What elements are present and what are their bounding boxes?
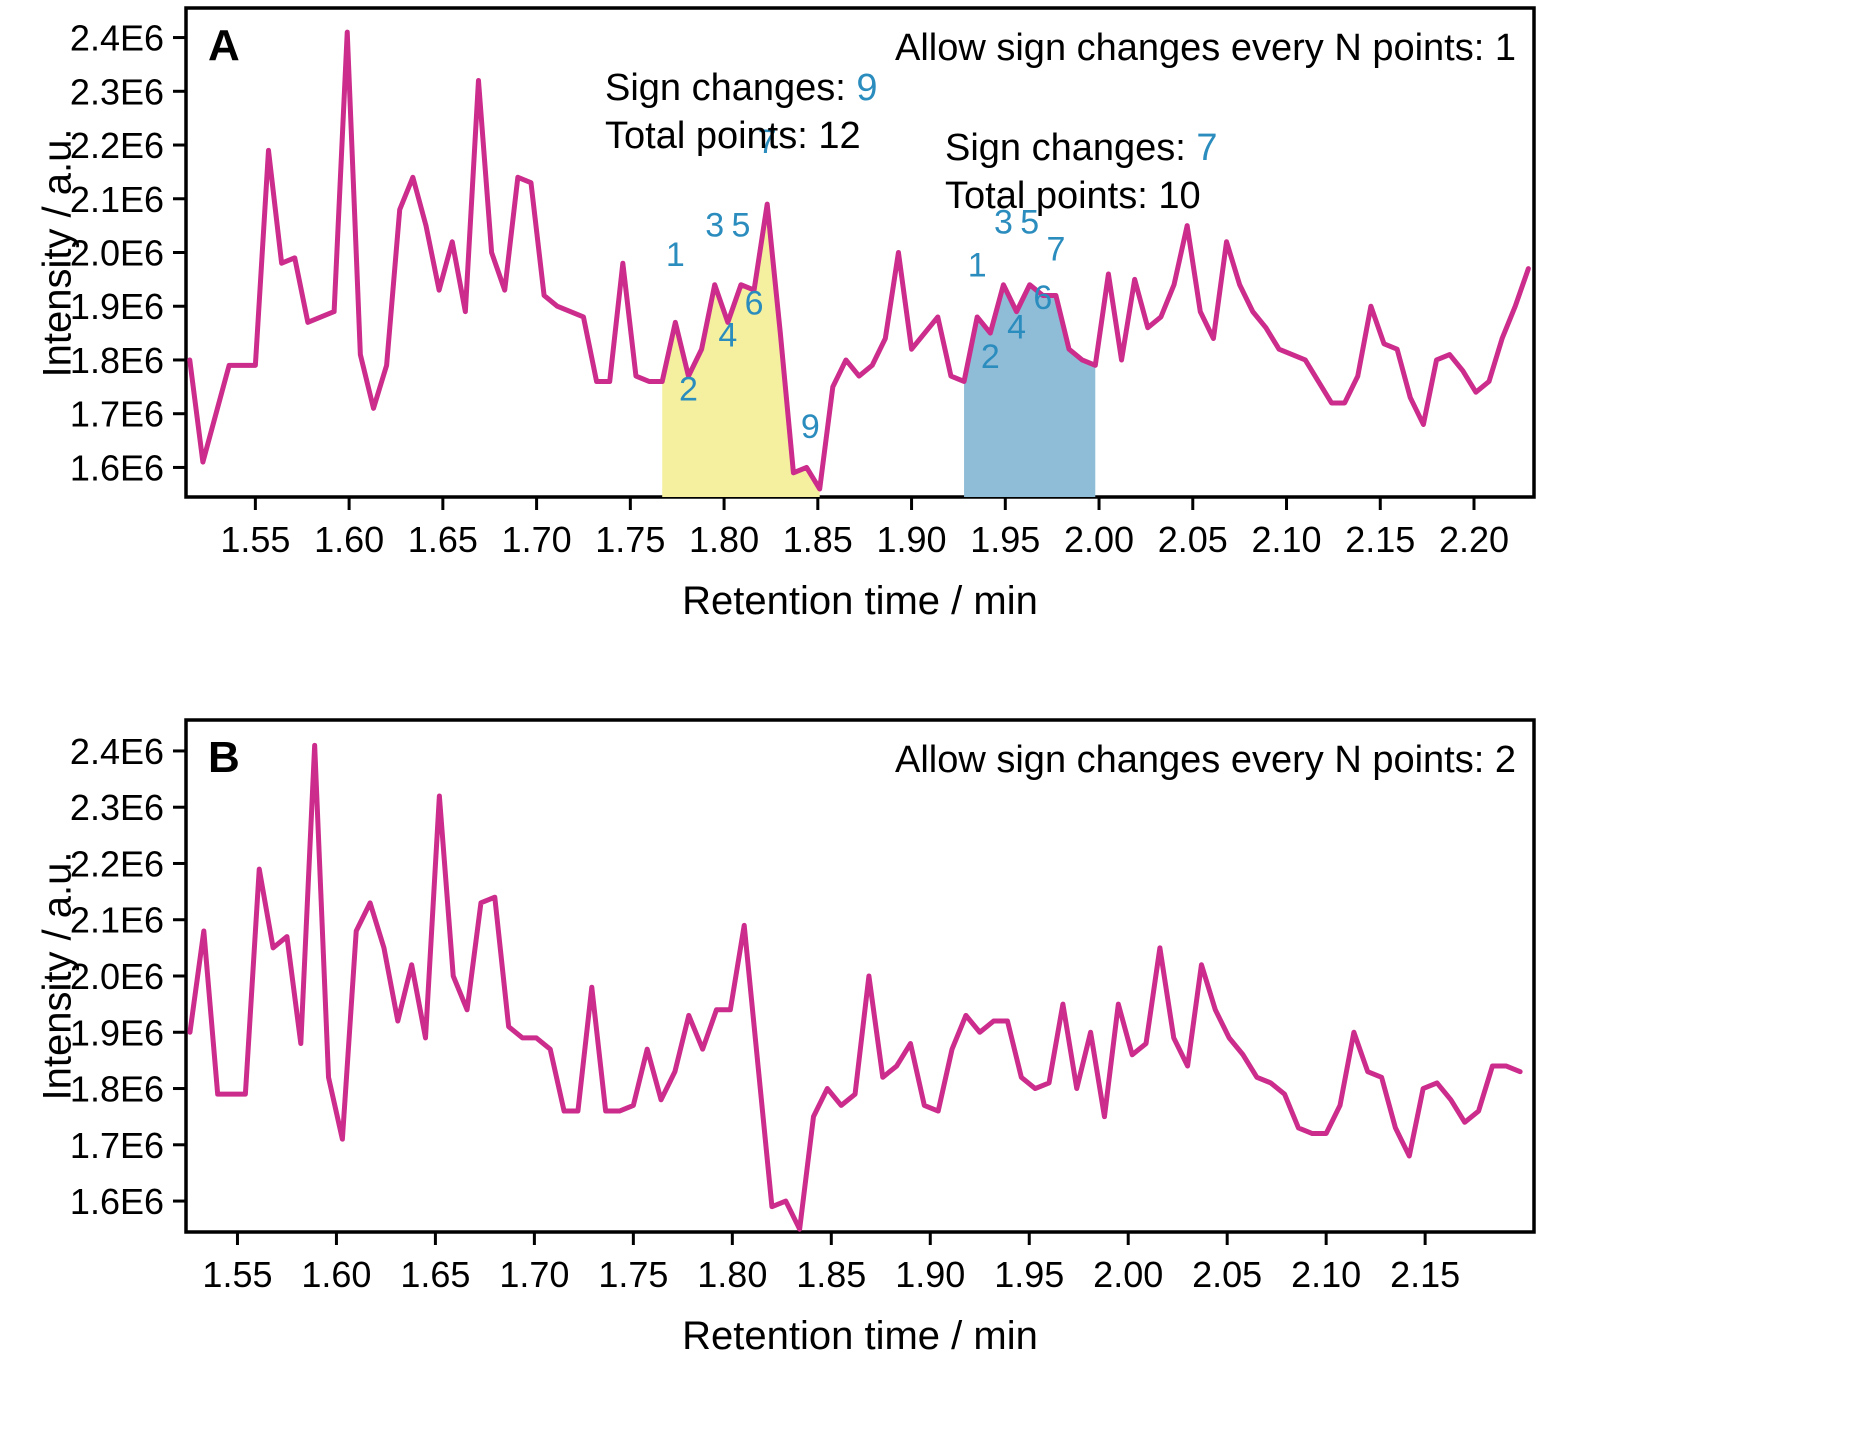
blue-total-points-value: 10 (1158, 175, 1200, 217)
x-tick-label: 1.85 (783, 519, 853, 560)
x-tick-label: 1.75 (595, 519, 665, 560)
panel-a-top-right-note: Allow sign changes every N points: 1 (895, 27, 1516, 69)
point-label: 7 (1046, 231, 1065, 269)
x-tick-label: 1.95 (994, 1254, 1064, 1295)
point-label: 2 (981, 338, 1000, 376)
yellow-sign-changes-line: Sign changes: 9 (605, 67, 878, 109)
x-tick-label: 1.65 (408, 519, 478, 560)
point-label: 4 (718, 317, 737, 355)
x-tick-label: 1.70 (502, 519, 572, 560)
x-tick-label: 2.05 (1192, 1254, 1262, 1295)
x-tick-label: 1.95 (970, 519, 1040, 560)
x-tick-label: 1.90 (877, 519, 947, 560)
y-tick-label: 1.8E6 (70, 1069, 164, 1110)
y-tick-label: 1.7E6 (70, 1125, 164, 1166)
blue-sign-changes-label: Sign changes: (945, 127, 1196, 169)
figure-root: 1.551.601.651.701.751.801.851.901.952.00… (0, 0, 1856, 1447)
y-tick-label: 2.0E6 (70, 956, 164, 997)
x-tick-label: 2.00 (1064, 519, 1134, 560)
point-label: 3 (705, 206, 724, 244)
y-tick-label: 2.1E6 (70, 179, 164, 220)
y-tick-label: 1.6E6 (70, 1181, 164, 1222)
point-label: 2 (679, 370, 698, 408)
yellow-total-points-label: Total points: (605, 115, 818, 157)
x-tick-label: 2.05 (1158, 519, 1228, 560)
yellow-sign-changes-label: Sign changes: (605, 67, 856, 109)
x-tick-label: 1.65 (400, 1254, 470, 1295)
y-tick-label: 2.2E6 (70, 125, 164, 166)
x-tick-label: 2.10 (1291, 1254, 1361, 1295)
x-tick-label: 1.90 (895, 1254, 965, 1295)
y-tick-label: 1.7E6 (70, 394, 164, 435)
x-tick-label: 1.80 (697, 1254, 767, 1295)
panel-letter: A (208, 21, 240, 70)
yellow-sign-changes-value: 9 (856, 67, 877, 109)
y-tick-label: 1.8E6 (70, 340, 164, 381)
y-tick-label: 2.4E6 (70, 731, 164, 772)
panel-b: 1.551.601.651.701.751.801.851.901.952.00… (0, 712, 1856, 1447)
y-tick-label: 2.2E6 (70, 843, 164, 884)
x-tick-label: 2.20 (1439, 519, 1509, 560)
x-tick-label: 1.80 (689, 519, 759, 560)
yellow-total-points-value: 12 (818, 115, 860, 157)
x-tick-label: 1.60 (314, 519, 384, 560)
panel-a-y-axis-label: Intensity / a.u. (36, 128, 81, 377)
blue-sign-changes-value: 7 (1196, 127, 1217, 169)
y-tick-label: 2.1E6 (70, 900, 164, 941)
x-tick-label: 2.15 (1345, 519, 1415, 560)
blue-sign-changes-line: Sign changes: 7 (945, 127, 1218, 169)
x-tick-label: 2.00 (1093, 1254, 1163, 1295)
blue-total-points-line: Total points: 10 (945, 175, 1201, 217)
y-tick-label: 2.4E6 (70, 18, 164, 59)
panel-b-x-axis-label: Retention time / min (186, 1314, 1534, 1359)
y-tick-label: 2.3E6 (70, 787, 164, 828)
point-label: 1 (968, 247, 987, 285)
blue-total-points-label: Total points: (945, 175, 1158, 217)
point-label: 4 (1007, 308, 1026, 346)
x-tick-label: 1.60 (301, 1254, 371, 1295)
yellow-total-points-line: Total points: 12 (605, 115, 861, 157)
x-tick-label: 1.85 (796, 1254, 866, 1295)
x-tick-label: 1.55 (220, 519, 290, 560)
panel-a: 1.551.601.651.701.751.801.851.901.952.00… (0, 0, 1856, 712)
x-tick-label: 1.75 (598, 1254, 668, 1295)
panel-letter: B (208, 733, 240, 782)
point-label: 6 (1033, 279, 1052, 317)
point-label: 6 (745, 284, 764, 322)
x-tick-label: 2.15 (1390, 1254, 1460, 1295)
panel-b-y-axis-label: Intensity / a.u. (36, 851, 81, 1100)
x-tick-label: 1.55 (202, 1254, 272, 1295)
panel-b-top-right-note: Allow sign changes every N points: 2 (895, 739, 1516, 781)
point-label: 5 (731, 206, 750, 244)
y-tick-label: 2.0E6 (70, 233, 164, 274)
y-tick-label: 1.6E6 (70, 447, 164, 488)
y-tick-label: 2.3E6 (70, 71, 164, 112)
point-label: 1 (666, 236, 685, 274)
panel-a-x-axis-label: Retention time / min (186, 579, 1534, 624)
x-tick-label: 2.10 (1251, 519, 1321, 560)
y-tick-label: 1.9E6 (70, 1012, 164, 1053)
x-tick-label: 1.70 (499, 1254, 569, 1295)
point-label: 9 (801, 408, 820, 446)
y-tick-label: 1.9E6 (70, 286, 164, 327)
